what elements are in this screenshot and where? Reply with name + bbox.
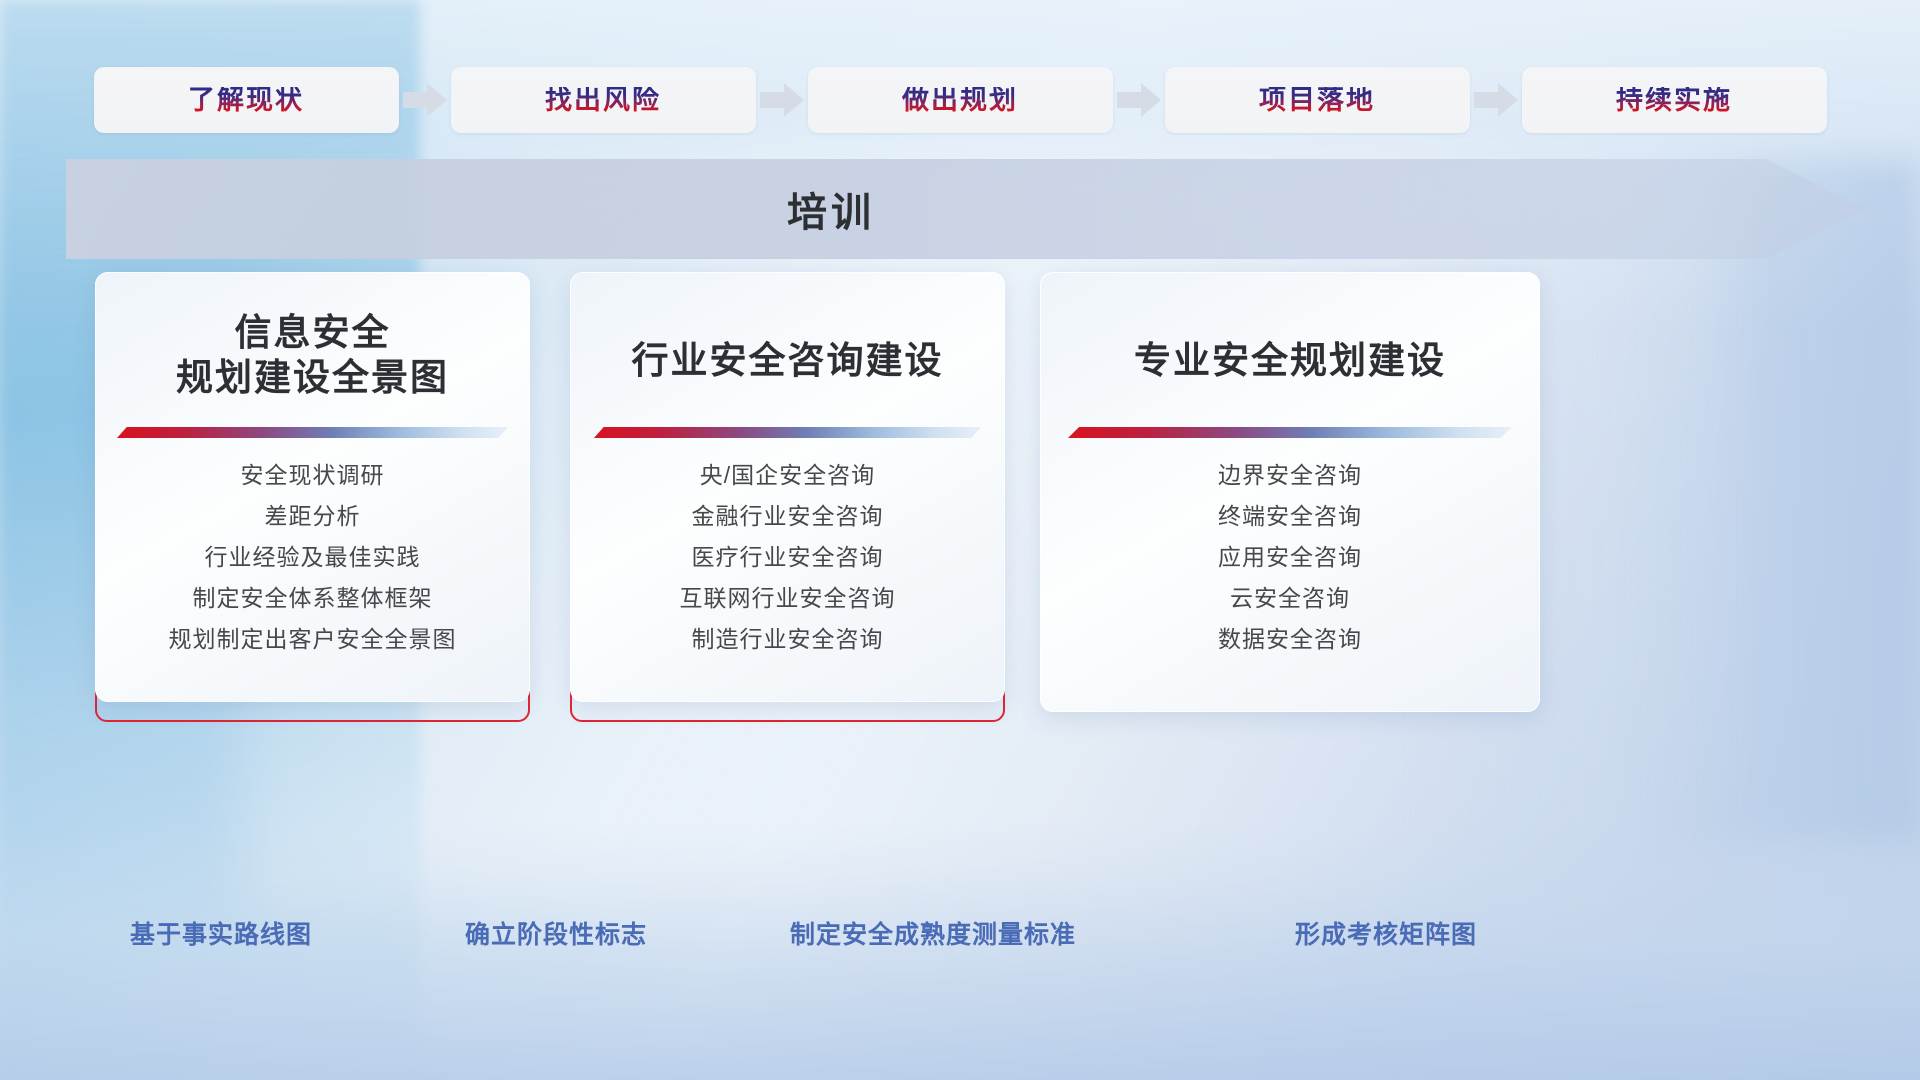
list-item: 应用安全咨询 — [1040, 546, 1540, 569]
list-item: 互联网行业安全咨询 — [570, 587, 1005, 610]
card-3-panel: 专业安全规划建设 边界安全咨询 终端安全咨询 应用安全咨询 云安全咨询 数据安全… — [1040, 272, 1540, 712]
card-2-title: 行业安全咨询建设 — [570, 272, 1005, 383]
list-item: 行业经验及最佳实践 — [95, 546, 530, 569]
card-2[interactable]: 行业安全咨询建设 央/国企安全咨询 金融行业安全咨询 医疗行业安全咨询 互联网行… — [570, 272, 1005, 722]
step-label-1: 了解现状 — [188, 87, 304, 114]
list-item: 安全现状调研 — [95, 464, 530, 487]
list-item: 云安全咨询 — [1040, 587, 1540, 610]
card-1[interactable]: 信息安全 规划建设全景图 安全现状调研 差距分析 行业经验及最佳实践 制定安全体… — [95, 272, 530, 722]
bottom-label-2: 确立阶段性标志 — [465, 915, 647, 951]
step-box-2[interactable]: 找出风险 — [451, 67, 756, 133]
list-item: 差距分析 — [95, 505, 530, 528]
list-item: 制造行业安全咨询 — [570, 628, 1005, 651]
card-1-title-line-1: 信息安全 — [95, 310, 530, 355]
list-item: 医疗行业安全咨询 — [570, 546, 1005, 569]
card-3-title: 专业安全规划建设 — [1040, 272, 1540, 383]
step-chevron-arrow-icon-3 — [1113, 67, 1165, 133]
bottom-label-4: 形成考核矩阵图 — [1295, 915, 1477, 951]
training-banner: 培训 — [66, 159, 1866, 259]
list-item: 数据安全咨询 — [1040, 628, 1540, 651]
card-2-item-list: 央/国企安全咨询 金融行业安全咨询 医疗行业安全咨询 互联网行业安全咨询 制造行… — [570, 464, 1005, 669]
list-item: 边界安全咨询 — [1040, 464, 1540, 487]
card-2-title-line-1: 行业安全咨询建设 — [570, 338, 1005, 383]
bottom-label-1: 基于事实路线图 — [130, 915, 312, 951]
list-item: 终端安全咨询 — [1040, 505, 1540, 528]
banner-title: 培训 — [66, 159, 1596, 259]
step-label-2: 找出风险 — [545, 87, 661, 114]
card-3[interactable]: 专业安全规划建设 边界安全咨询 终端安全咨询 应用安全咨询 云安全咨询 数据安全… — [1040, 272, 1540, 722]
card-1-title-line-2: 规划建设全景图 — [95, 355, 530, 400]
card-1-divider — [117, 427, 508, 438]
card-2-panel: 行业安全咨询建设 央/国企安全咨询 金融行业安全咨询 医疗行业安全咨询 互联网行… — [570, 272, 1005, 702]
process-step-flow: 了解现状 找出风险 做出规划 项目落地 持续实施 — [0, 60, 1920, 140]
card-1-title: 信息安全 规划建设全景图 — [95, 272, 530, 400]
step-chevron-arrow-icon-1 — [399, 67, 451, 133]
bottom-label-row: 基于事实路线图 确立阶段性标志 制定安全成熟度测量标准 形成考核矩阵图 — [0, 915, 1920, 965]
step-label-4: 项目落地 — [1259, 87, 1375, 114]
card-3-title-line-1: 专业安全规划建设 — [1040, 338, 1540, 383]
bottom-label-3: 制定安全成熟度测量标准 — [790, 915, 1076, 951]
card-3-item-list: 边界安全咨询 终端安全咨询 应用安全咨询 云安全咨询 数据安全咨询 — [1040, 464, 1540, 669]
step-label-5: 持续实施 — [1616, 87, 1732, 114]
list-item: 规划制定出客户安全全景图 — [95, 628, 530, 651]
card-3-divider — [1068, 427, 1512, 438]
card-2-divider — [594, 427, 981, 438]
card-1-item-list: 安全现状调研 差距分析 行业经验及最佳实践 制定安全体系整体框架 规划制定出客户… — [95, 464, 530, 669]
step-chevron-arrow-icon-2 — [756, 67, 808, 133]
step-box-1[interactable]: 了解现状 — [94, 67, 399, 133]
card-group: 信息安全 规划建设全景图 安全现状调研 差距分析 行业经验及最佳实践 制定安全体… — [0, 272, 1920, 722]
step-label-3: 做出规划 — [902, 87, 1018, 114]
list-item: 制定安全体系整体框架 — [95, 587, 530, 610]
list-item: 金融行业安全咨询 — [570, 505, 1005, 528]
step-box-3[interactable]: 做出规划 — [808, 67, 1113, 133]
list-item: 央/国企安全咨询 — [570, 464, 1005, 487]
step-chevron-arrow-icon-4 — [1470, 67, 1522, 133]
step-box-4[interactable]: 项目落地 — [1165, 67, 1470, 133]
card-1-panel: 信息安全 规划建设全景图 安全现状调研 差距分析 行业经验及最佳实践 制定安全体… — [95, 272, 530, 702]
step-box-5[interactable]: 持续实施 — [1522, 67, 1827, 133]
